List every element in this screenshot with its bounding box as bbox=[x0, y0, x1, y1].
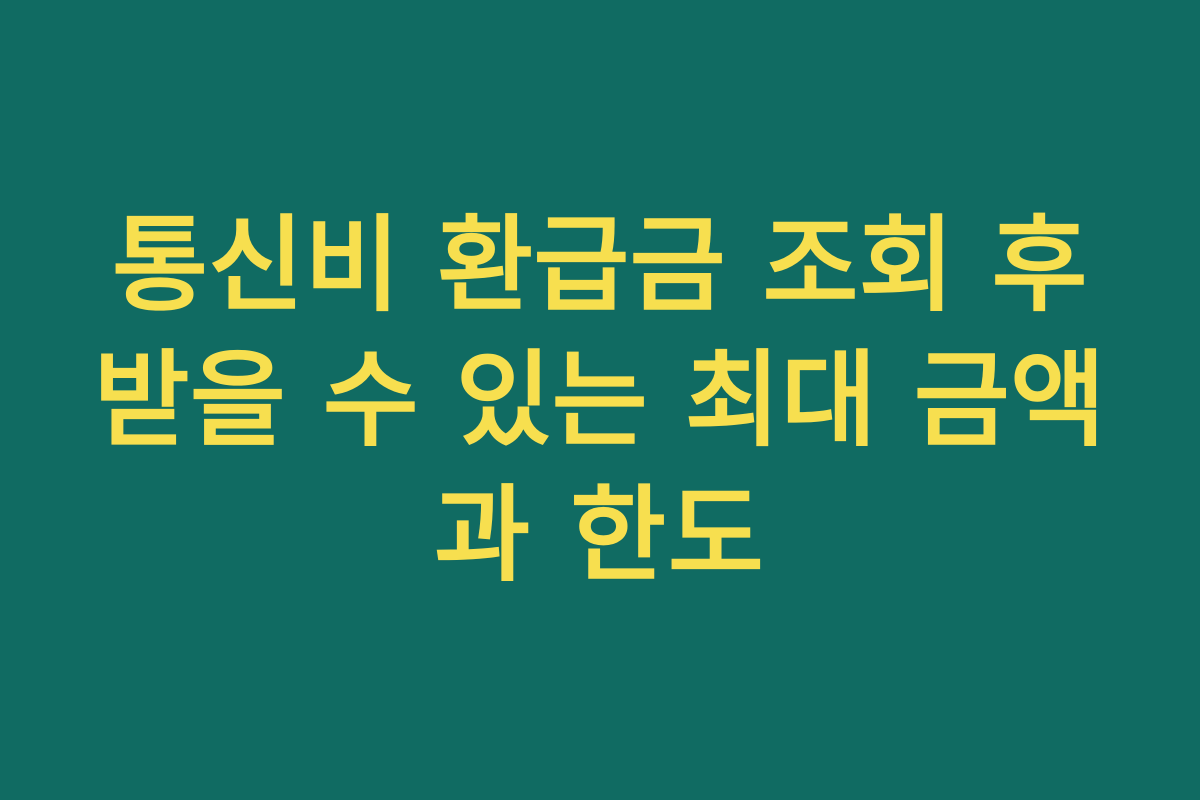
headline-text-block: 통신비 환급금 조회 후 받을 수 있는 최대 금액 과 한도 bbox=[70, 198, 1130, 603]
banner-canvas: 통신비 환급금 조회 후 받을 수 있는 최대 금액 과 한도 bbox=[0, 0, 1200, 800]
headline-line-2: 받을 수 있는 최대 금액 bbox=[70, 333, 1130, 468]
headline-line-1: 통신비 환급금 조회 후 bbox=[70, 198, 1130, 333]
headline-line-3: 과 한도 bbox=[70, 468, 1130, 603]
